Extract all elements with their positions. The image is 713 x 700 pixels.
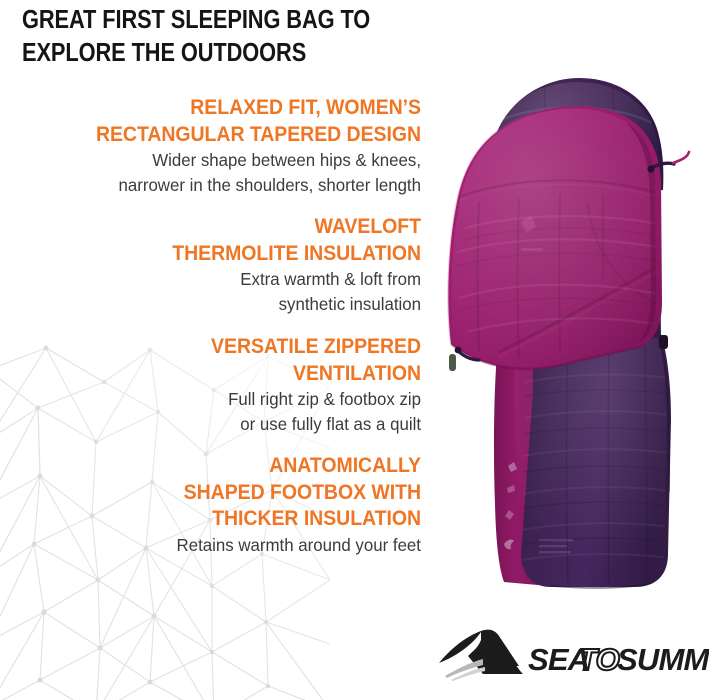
- feature-heading: RELAXED FIT, WOMEN’S RECTANGULAR TAPERED…: [36, 94, 421, 147]
- sleeping-bag-product-image: [437, 52, 713, 620]
- feature-description: Full right zip & footbox zip or use full…: [11, 387, 421, 437]
- feature-heading: ANATOMICALLY SHAPED FOOTBOX WITH THICKER…: [36, 452, 421, 532]
- feature-item-waveloft-insulation: WAVELOFT THERMOLITE INSULATION Extra war…: [0, 213, 421, 317]
- feature-description: Wider shape between hips & knees, narrow…: [11, 148, 421, 198]
- feature-description: Retains warmth around your feet: [11, 533, 421, 558]
- feature-list: RELAXED FIT, WOMEN’S RECTANGULAR TAPERED…: [0, 94, 421, 558]
- sleeping-bag-lower-body: [494, 332, 677, 592]
- feature-description: Extra warmth & loft from synthetic insul…: [11, 267, 421, 317]
- feature-heading: VERSATILE ZIPPERED VENTILATION: [36, 333, 421, 386]
- side-zipper-slider-icon: [659, 335, 668, 349]
- logo-text-summit: SUMMIT: [617, 642, 709, 677]
- sleeping-bag-open-flap-lining: [447, 102, 667, 372]
- feature-item-zippered-ventilation: VERSATILE ZIPPERED VENTILATION Full righ…: [0, 333, 421, 437]
- mountain-wave-mark-icon: [439, 630, 523, 681]
- logo-text-to: TO: [578, 642, 620, 677]
- feature-heading: WAVELOFT THERMOLITE INSULATION: [36, 213, 421, 266]
- feature-item-anatomical-footbox: ANATOMICALLY SHAPED FOOTBOX WITH THICKER…: [0, 452, 421, 558]
- brand-logo: SEA TO SUMMIT: [437, 628, 709, 682]
- page-title: GREAT FIRST SLEEPING BAG TO EXPLORE THE …: [22, 4, 390, 70]
- feature-item-relaxed-fit: RELAXED FIT, WOMEN’S RECTANGULAR TAPERED…: [0, 94, 421, 198]
